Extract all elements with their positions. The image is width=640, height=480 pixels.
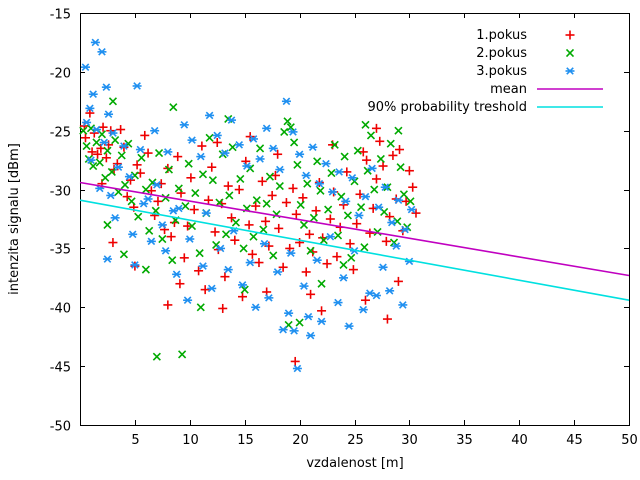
plot-background — [0, 0, 640, 480]
legend-label-4: mean — [490, 82, 527, 97]
x-tick-label: 5 — [131, 433, 139, 448]
x-tick-label: 20 — [292, 433, 309, 448]
x-tick-label: 10 — [182, 433, 199, 448]
y-tick-label: -45 — [50, 361, 71, 376]
y-tick-label: -15 — [50, 8, 71, 23]
x-axis-label: vzdalenost [m] — [306, 456, 403, 471]
y-tick-label: -25 — [50, 126, 71, 141]
x-tick-label: 15 — [237, 433, 254, 448]
x-tick-label: 30 — [401, 433, 418, 448]
legend-label-5: 90% probability treshold — [367, 100, 527, 115]
scatter-plot: 5101520253035404550 -15-20-25-30-35-40-4… — [0, 0, 640, 480]
y-tick-label: -40 — [50, 302, 71, 317]
y-tick-label: -30 — [50, 185, 71, 200]
y-tick-label: -20 — [50, 67, 71, 82]
chart-container: 5101520253035404550 -15-20-25-30-35-40-4… — [0, 0, 640, 480]
x-tick-label: 50 — [621, 433, 638, 448]
x-tick-label: 40 — [511, 433, 528, 448]
y-tick-label: -50 — [50, 420, 71, 435]
y-tick-label: -35 — [50, 243, 71, 258]
legend-label-1: 1.pokus — [476, 28, 527, 43]
legend-label-3: 3.pokus — [476, 64, 527, 79]
legend-label-2: 2.pokus — [476, 46, 527, 61]
x-tick-label: 45 — [566, 433, 583, 448]
x-tick-label: 35 — [456, 433, 473, 448]
y-axis-label: intenzita signalu [dBm] — [7, 143, 22, 295]
x-tick-label: 25 — [347, 433, 364, 448]
